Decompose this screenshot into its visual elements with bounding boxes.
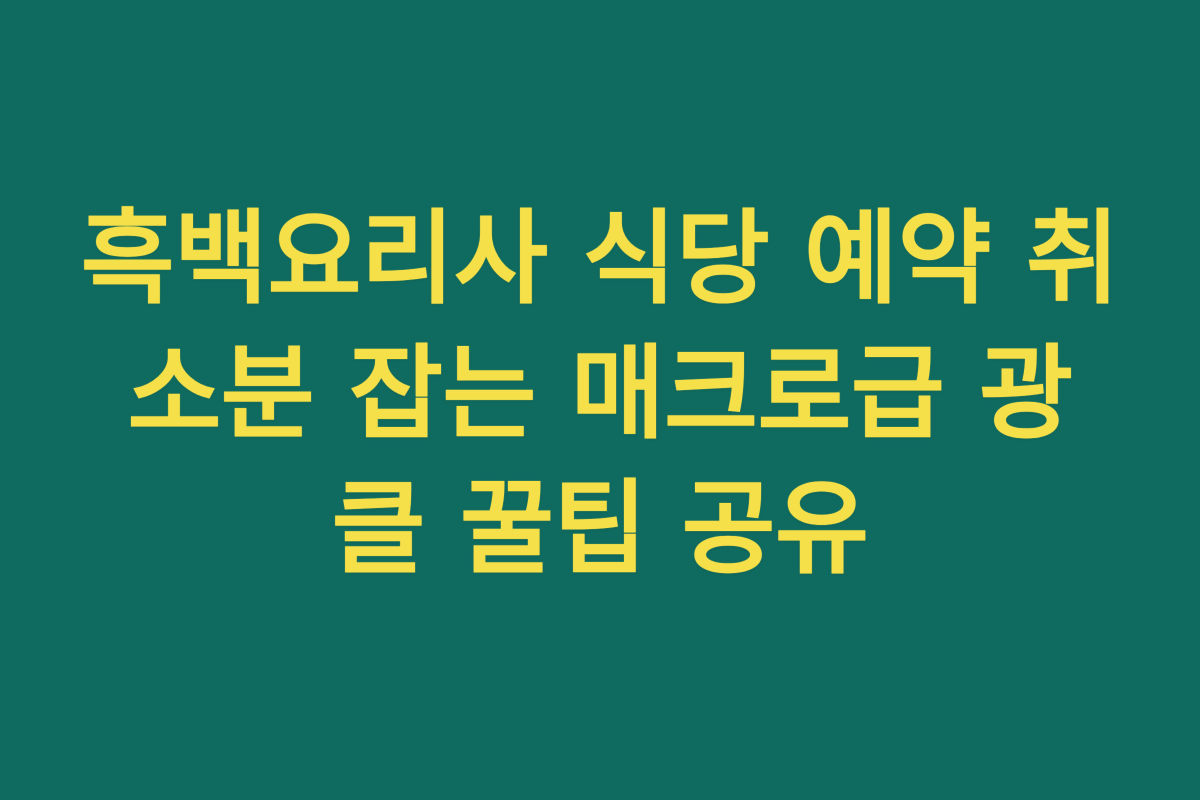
headline-line-2: 소분 잡는 매크로급 광 (81, 327, 1119, 462)
headline-line-1: 흑백요리사 식당 예약 취 (81, 192, 1119, 327)
page-title: 흑백요리사 식당 예약 취 소분 잡는 매크로급 광 클 꿀팁 공유 (81, 192, 1119, 597)
headline-block: 흑백요리사 식당 예약 취 소분 잡는 매크로급 광 클 꿀팁 공유 (0, 192, 1200, 597)
poster-canvas: 흑백요리사 식당 예약 취 소분 잡는 매크로급 광 클 꿀팁 공유 (0, 0, 1200, 800)
headline-line-3: 클 꿀팁 공유 (81, 462, 1119, 597)
